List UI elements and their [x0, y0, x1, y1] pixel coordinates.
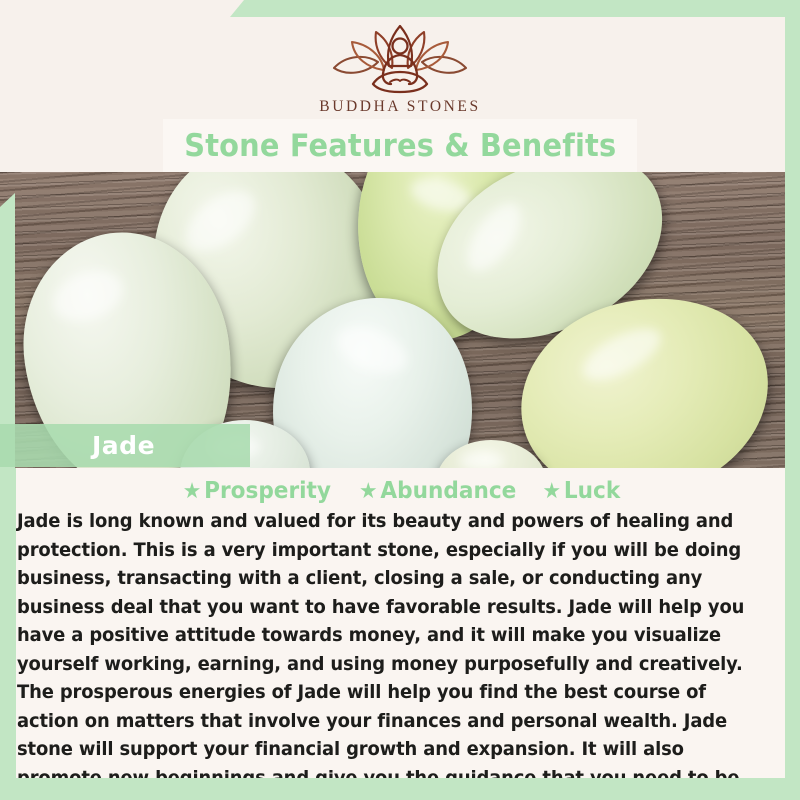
- star-icon: ★: [542, 479, 561, 504]
- stone-name-label: Jade: [92, 431, 155, 460]
- infographic-page: BUDDHA STONES Stone Features & Benefits …: [0, 0, 800, 800]
- benefit-label: Luck: [563, 478, 619, 504]
- star-icon: ★: [182, 479, 201, 504]
- description-text: Jade is long known and valued for its be…: [17, 508, 760, 800]
- benefit-item-prosperity: ★Prosperity: [182, 478, 330, 504]
- benefit-item-abundance: ★Abundance: [359, 478, 516, 504]
- stone-name-band: Jade: [0, 424, 250, 467]
- title-banner: Stone Features & Benefits: [163, 119, 637, 172]
- benefit-label: Abundance: [380, 478, 516, 504]
- star-icon: ★: [359, 479, 378, 504]
- frame-accent-left-lower: [0, 468, 16, 800]
- frame-accent-top: [230, 0, 800, 17]
- lotus-meditation-icon: [326, 22, 474, 94]
- brand-name: BUDDHA STONES: [0, 98, 800, 116]
- frame-accent-bottom: [0, 778, 800, 800]
- brand-logo: BUDDHA STONES: [0, 22, 800, 116]
- body-section: ★Prosperity ★Abundance ★Luck Jade is lon…: [0, 468, 800, 800]
- page-title: Stone Features & Benefits: [184, 128, 616, 164]
- benefit-item-luck: ★Luck: [542, 478, 620, 504]
- benefits-row: ★Prosperity ★Abundance ★Luck: [0, 478, 800, 504]
- benefit-label: Prosperity: [204, 478, 331, 504]
- frame-accent-right: [785, 0, 800, 800]
